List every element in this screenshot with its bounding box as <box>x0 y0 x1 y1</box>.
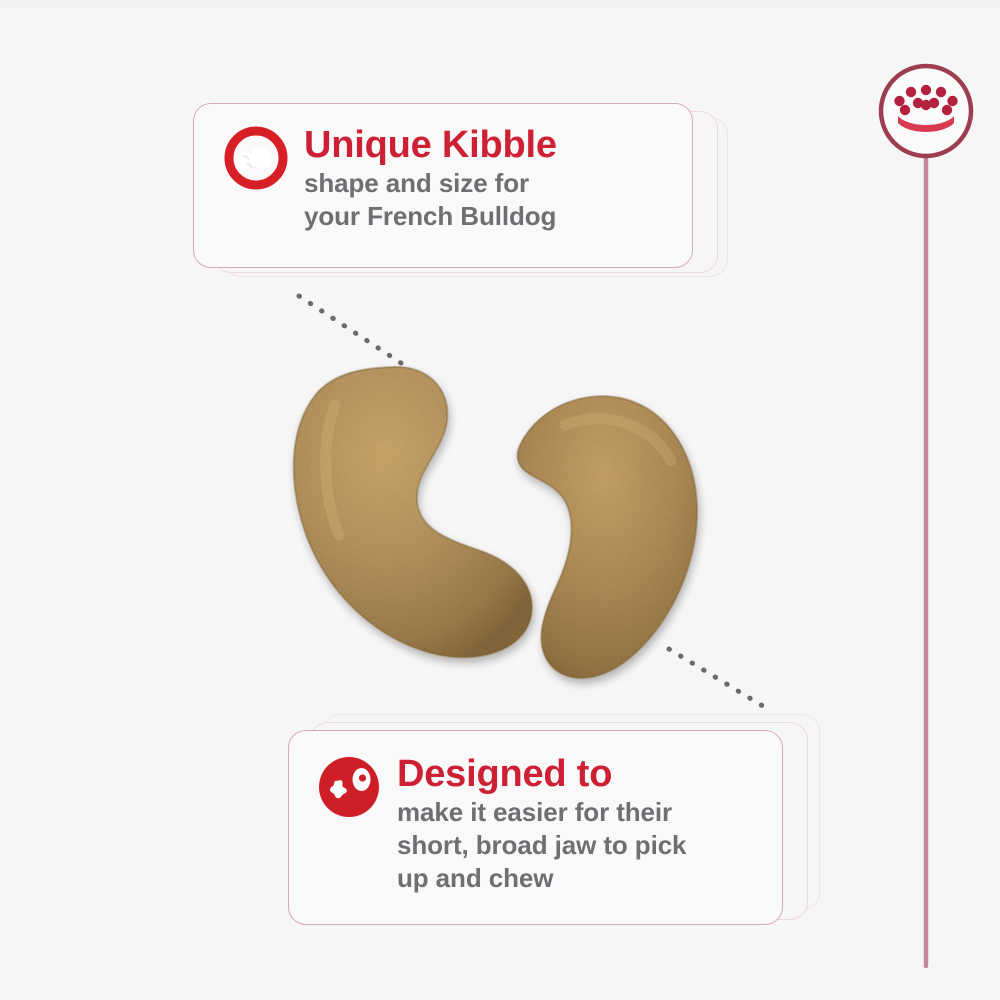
feature-card-unique-kibble[interactable]: Unique Kibble shape and size for your Fr… <box>193 103 733 283</box>
card-icon-wrap <box>224 126 304 190</box>
royal-canin-crown-logo <box>871 58 981 970</box>
card-title-unique-kibble: Unique Kibble <box>304 126 674 165</box>
card-text-block: Unique Kibble shape and size for your Fr… <box>304 126 674 233</box>
card-title-designed-to: Designed to <box>397 755 768 794</box>
kibble-piece-right <box>517 396 697 678</box>
card-body-line: make it easier for their <box>397 796 768 829</box>
infographic-stage: Unique Kibble shape and size for your Fr… <box>0 0 1000 1000</box>
dog-jaw-icon <box>317 755 381 819</box>
card-body-line: up and chew <box>397 862 768 895</box>
card-body-designed-to: make it easier for their short, broad ja… <box>397 796 768 896</box>
feature-card-designed-to[interactable]: Designed to make it easier for their sho… <box>288 712 833 927</box>
card-body-line: short, broad jaw to pick <box>397 829 768 862</box>
logo-circle <box>881 66 971 156</box>
card-front-unique-kibble[interactable]: Unique Kibble shape and size for your Fr… <box>193 103 693 268</box>
card-body-line: your French Bulldog <box>304 200 674 233</box>
kibble-in-circle-icon <box>224 126 288 190</box>
card-body-line: shape and size for <box>304 167 674 200</box>
card-front-designed-to[interactable]: Designed to make it easier for their sho… <box>288 730 783 925</box>
card-icon-wrap <box>317 755 397 819</box>
card-body-unique-kibble: shape and size for your French Bulldog <box>304 167 674 234</box>
card-text-block: Designed to make it easier for their sho… <box>397 755 768 896</box>
kibble-piece-left <box>294 367 532 658</box>
dotted-connector-bottom <box>665 645 775 715</box>
french-bulldog-kibble-photo <box>265 355 725 710</box>
top-band-decoration <box>0 0 1000 8</box>
